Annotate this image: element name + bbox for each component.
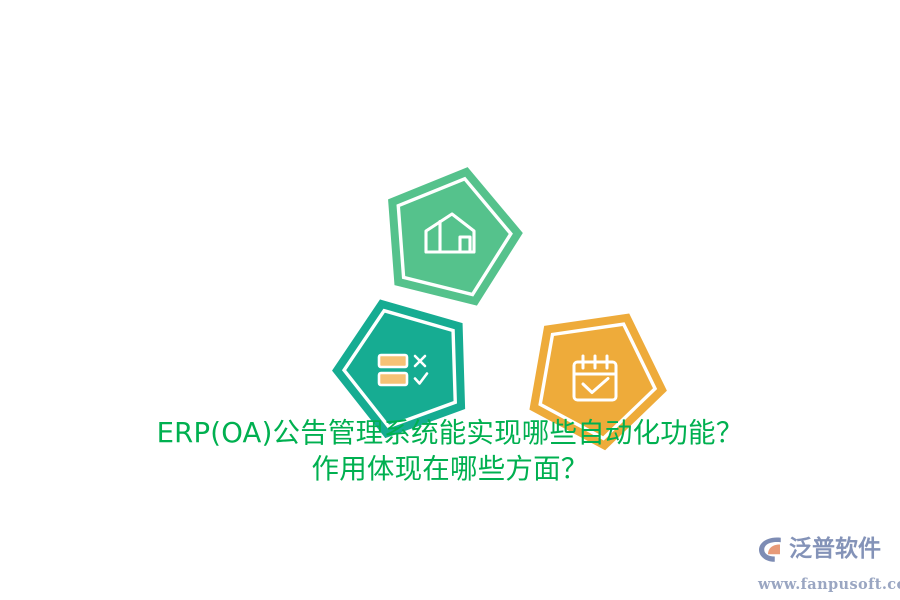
logo-accent — [768, 545, 780, 555]
checklist-row-1-bar — [379, 355, 407, 367]
brand-watermark: 泛普软件 www.fanpusoft.com — [756, 534, 888, 592]
fanpu-logo-icon — [756, 534, 786, 564]
brand-name: 泛普软件 — [789, 538, 881, 561]
brand-url: www.fanpusoft.com — [758, 578, 900, 593]
checklist-row-2-bar — [379, 373, 407, 385]
page-title: ERP(OA)公告管理系统能实现哪些自动化功能？ 作用体现在哪些方面？ — [0, 416, 900, 488]
hero-graphic — [300, 148, 590, 410]
page-title-line-2: 作用体现在哪些方面？ — [0, 452, 900, 488]
page-title-line-1: ERP(OA)公告管理系统能实现哪些自动化功能？ — [0, 416, 900, 452]
page-root: ERP(OA)公告管理系统能实现哪些自动化功能？ 作用体现在哪些方面？ 泛普软件… — [0, 0, 900, 600]
brand-lockup: 泛普软件 — [756, 534, 881, 564]
